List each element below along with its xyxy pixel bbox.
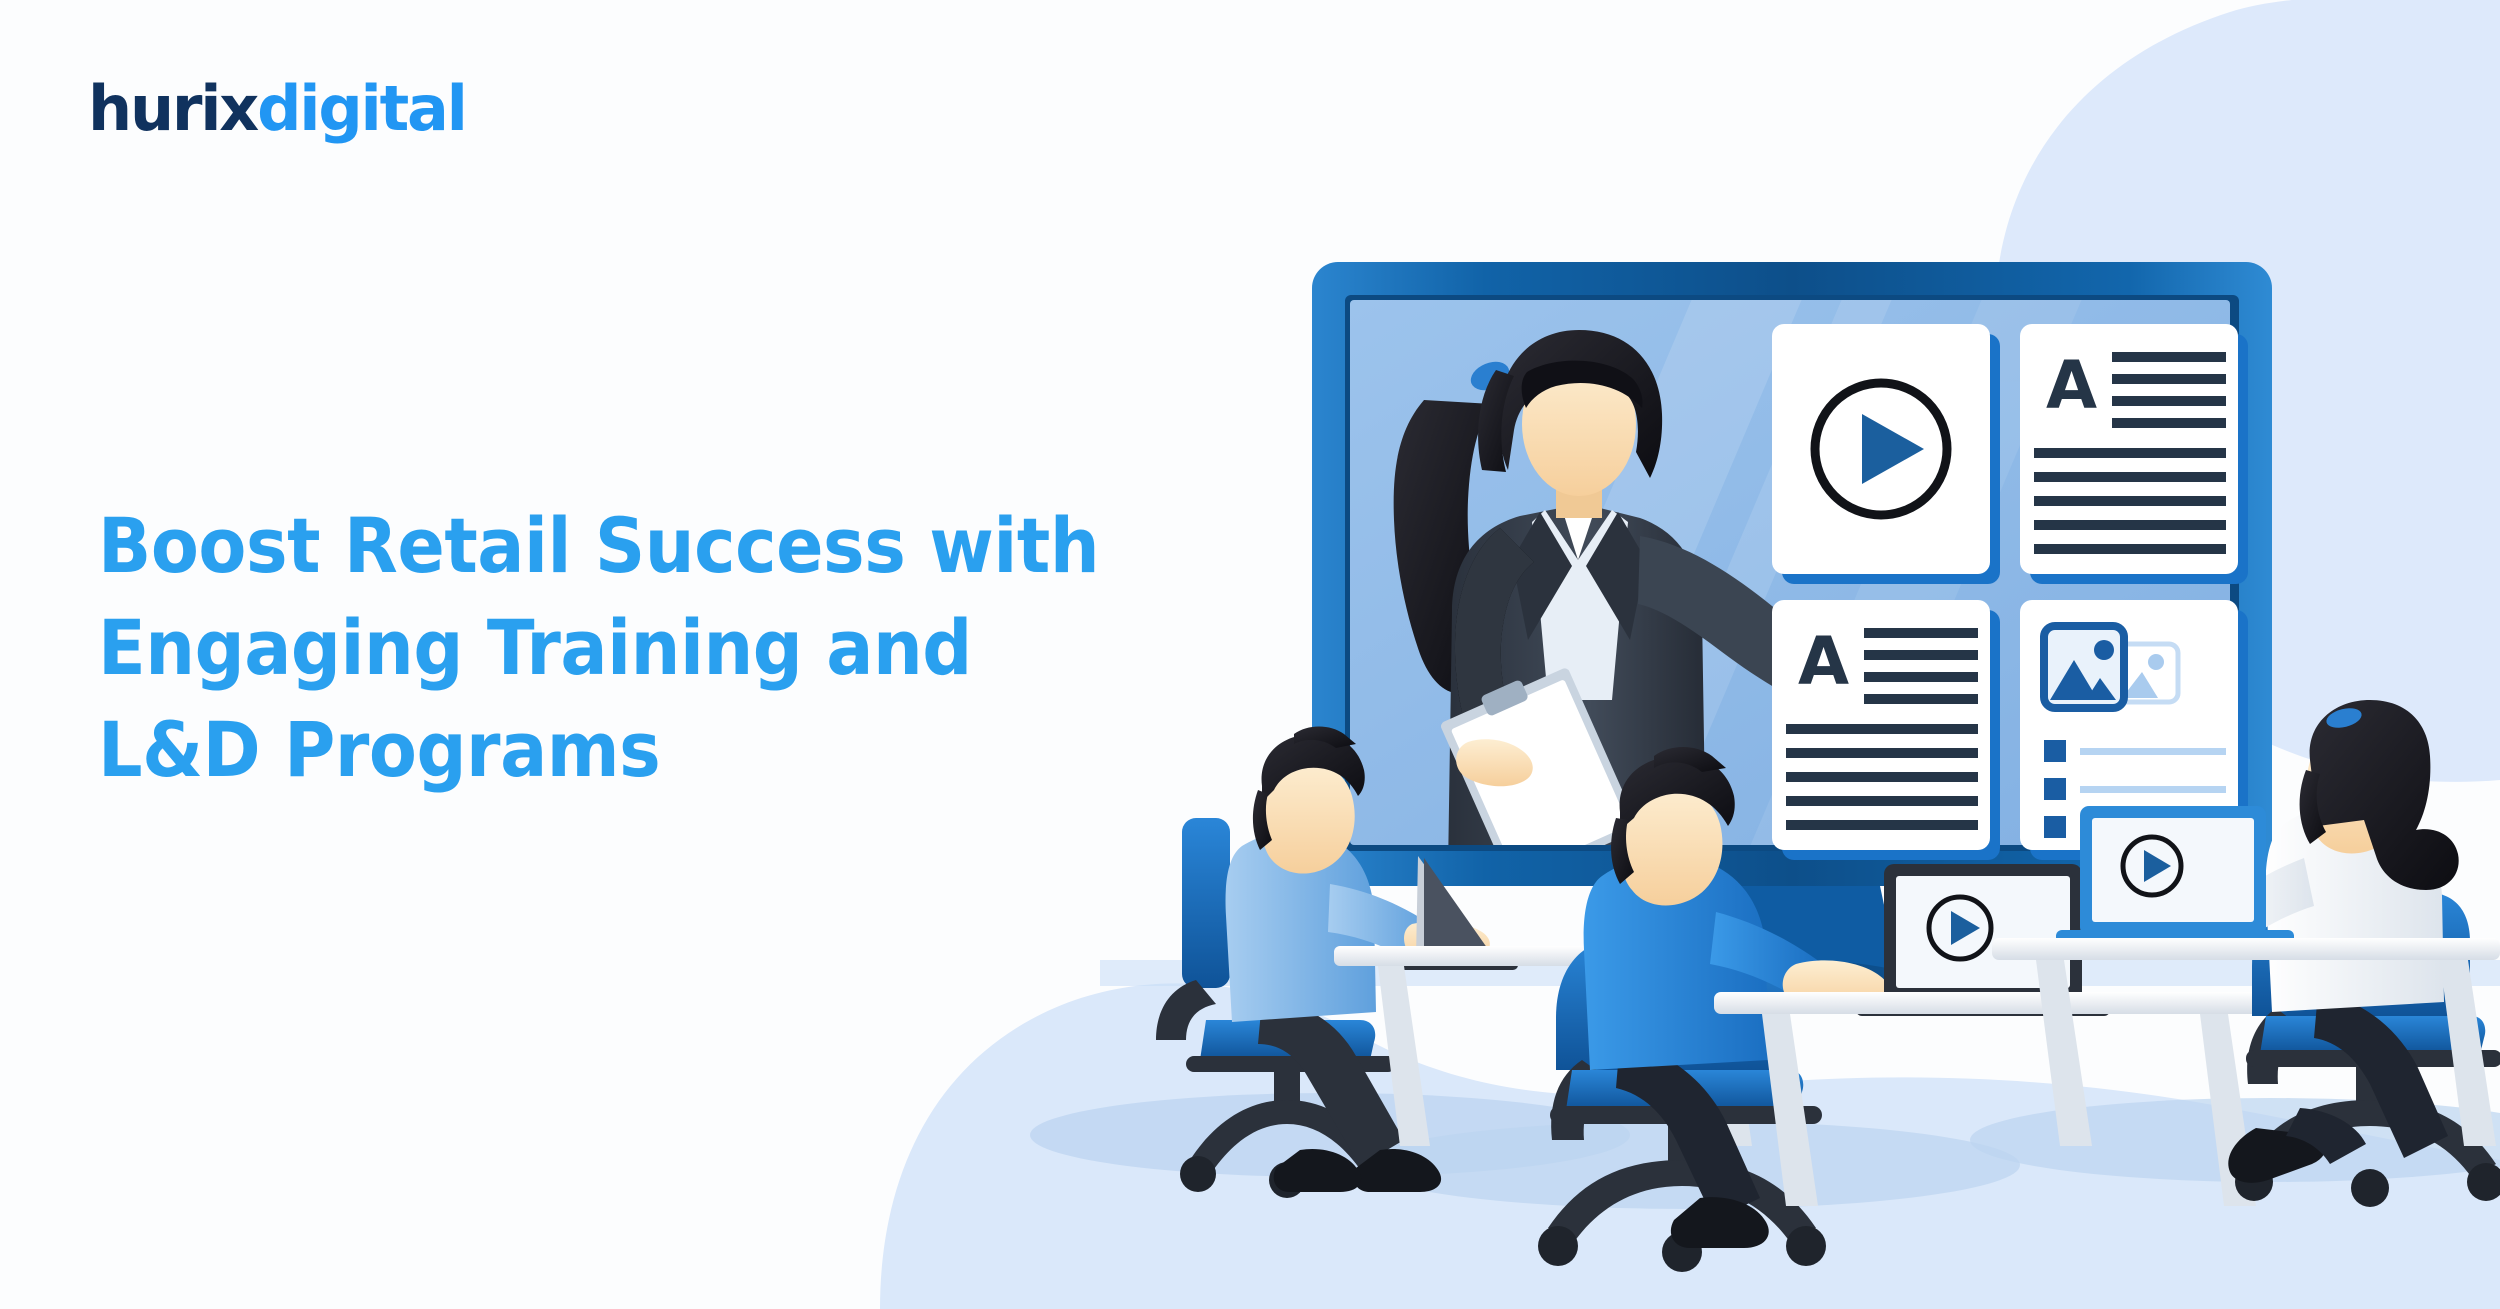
letter-a-icon: A: [2046, 347, 2097, 424]
card-article-top[interactable]: A: [2020, 324, 2248, 584]
card-video[interactable]: [1772, 324, 2000, 584]
training-illustration: A: [0, 0, 2500, 1309]
card-article-bottom[interactable]: A: [1772, 600, 2000, 860]
hero-banner: hurixdigital Boost Retail Success with E…: [0, 0, 2500, 1309]
letter-a-icon: A: [1798, 623, 1849, 700]
